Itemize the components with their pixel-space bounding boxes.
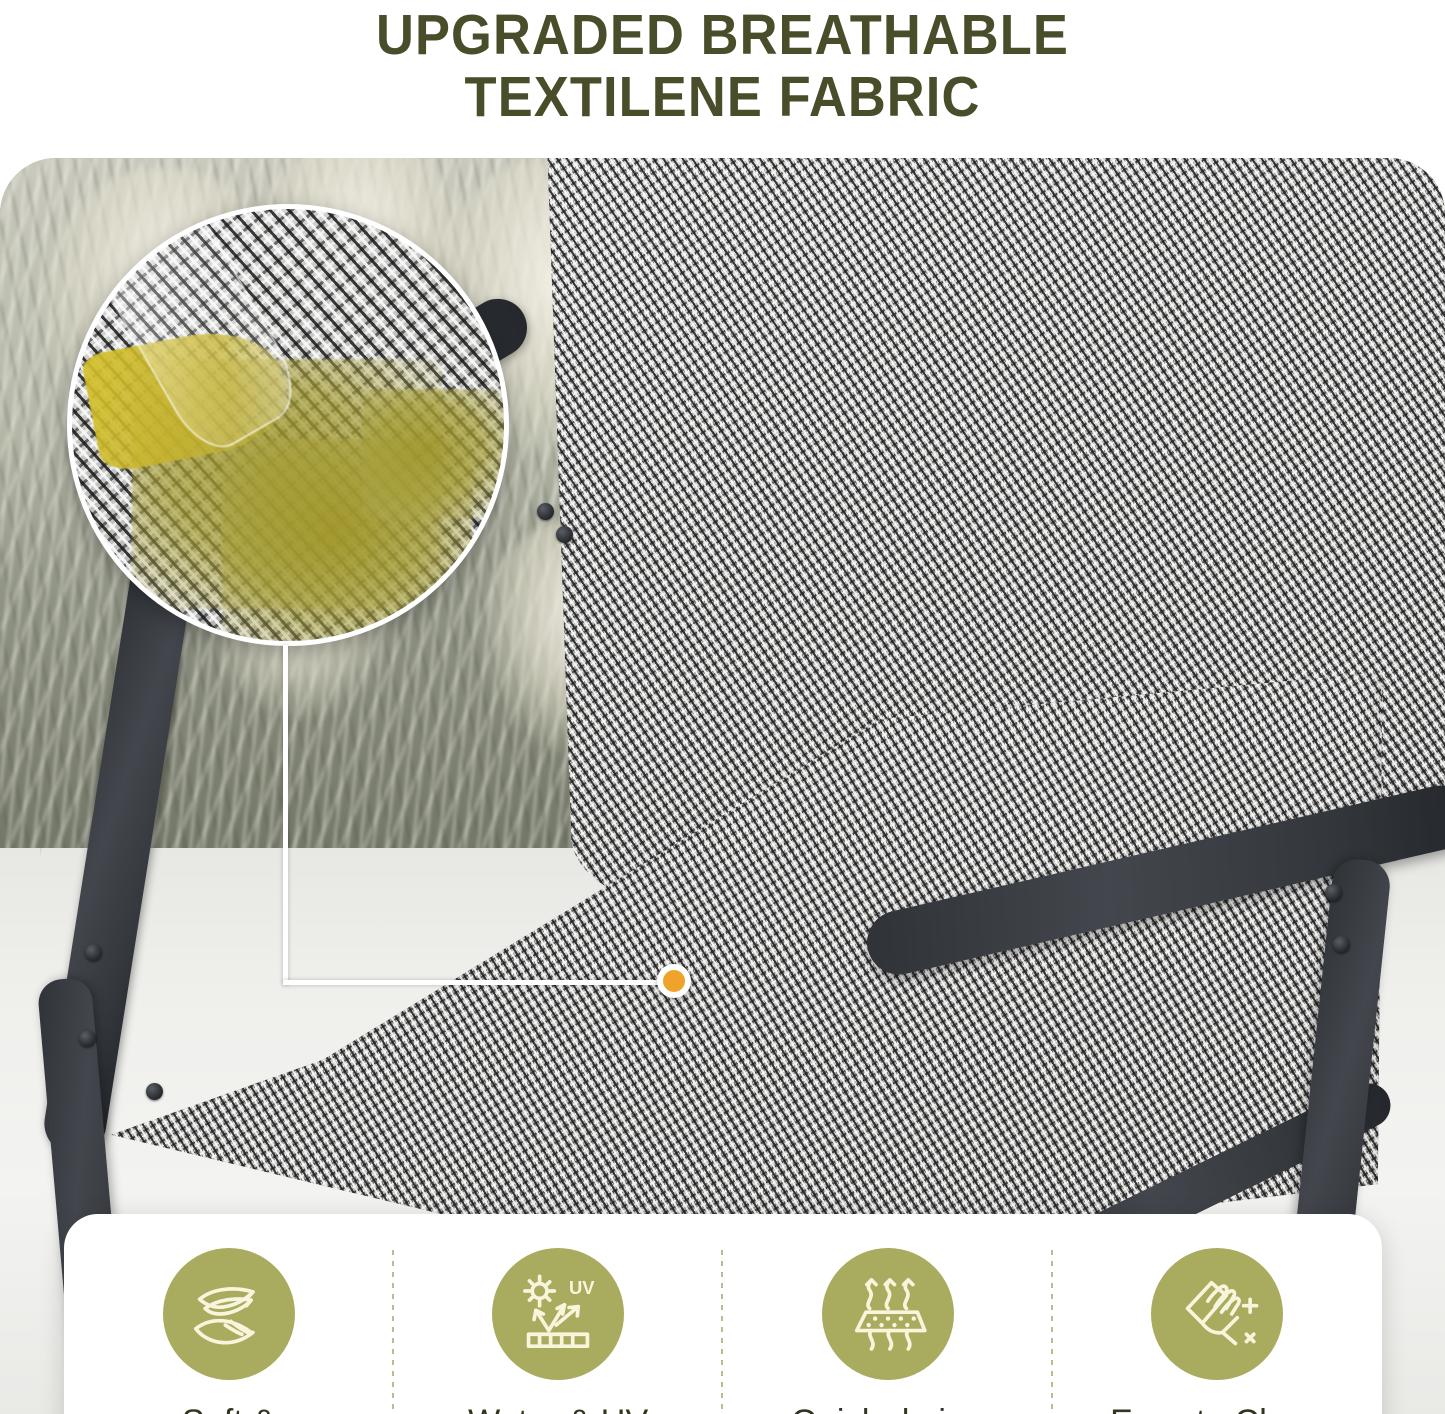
feature-label: Quick-drying — [791, 1402, 984, 1414]
svg-text:UV: UV — [569, 1277, 595, 1298]
headline-line-1: UPGRADED BREATHABLE — [58, 4, 1387, 66]
callout-line-horizontal — [283, 980, 675, 985]
feature-item-water-uv-resistant: UV Water & UV Resistant — [394, 1214, 724, 1414]
sun-uv-shield-icon: UV — [512, 1268, 604, 1360]
feature-item-soft-comfortable: Soft & Comfortable — [64, 1214, 394, 1414]
frame-rivet — [1325, 884, 1342, 901]
page-title: UPGRADED BREATHABLE TEXTILENE FABRIC — [58, 4, 1387, 128]
leaf-in-hand-icon — [183, 1268, 275, 1360]
frame-rivet — [146, 1083, 163, 1100]
icon-badge — [822, 1248, 954, 1380]
product-feature-graphic: UPGRADED BREATHABLE TEXTILENE FABRIC — [0, 0, 1445, 1414]
frame-rivet — [79, 1030, 96, 1047]
feature-label: Water & UV Resistant — [468, 1402, 648, 1414]
callout-line-vertical — [283, 645, 288, 985]
feature-label: Soft & Comfortable — [135, 1402, 322, 1414]
frame-rivet — [85, 944, 102, 961]
frame-rivet — [1333, 936, 1350, 953]
liquid-spill — [362, 389, 509, 519]
cleaning-cloth-icon — [1171, 1268, 1263, 1360]
product-photo: Soft & Comfortable UV — [0, 158, 1445, 1414]
icon-badge — [1151, 1248, 1283, 1380]
frame-rivet — [556, 526, 573, 543]
fabric-closeup-magnifier — [67, 204, 509, 646]
feature-label: Easy to Clean — [1110, 1402, 1324, 1414]
feature-item-easy-to-clean: Easy to Clean — [1053, 1214, 1383, 1414]
feature-bar: Soft & Comfortable UV — [64, 1214, 1382, 1414]
airflow-fabric-icon — [842, 1268, 934, 1360]
headline-line-2: TEXTILENE FABRIC — [58, 66, 1387, 128]
feature-item-quick-drying: Quick-drying — [723, 1214, 1053, 1414]
callout-point-marker — [657, 964, 691, 998]
icon-badge — [163, 1248, 295, 1380]
icon-badge: UV — [492, 1248, 624, 1380]
frame-rivet — [537, 503, 554, 520]
